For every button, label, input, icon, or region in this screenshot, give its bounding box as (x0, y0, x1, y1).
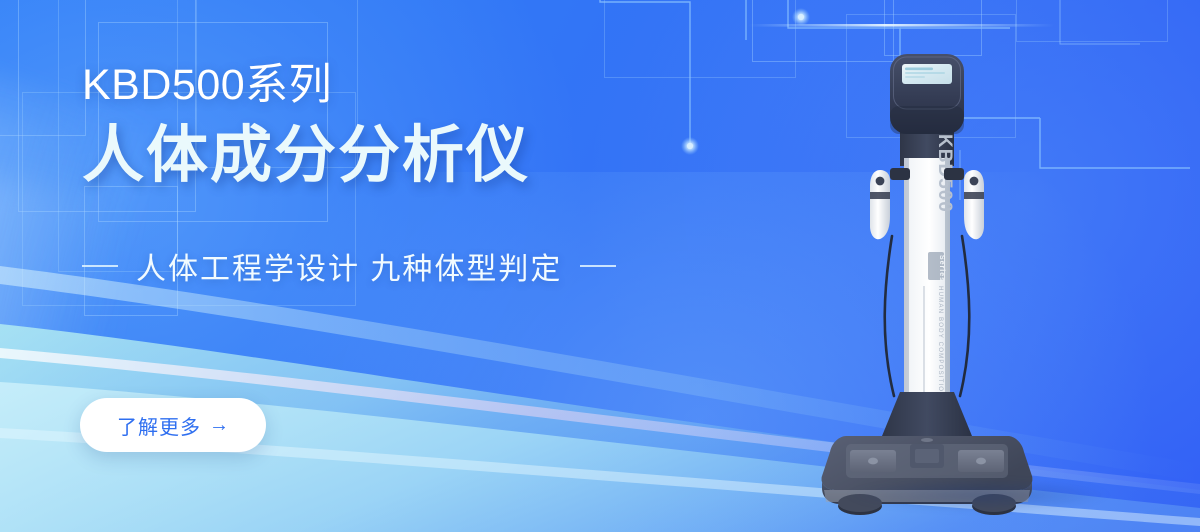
subtitle-row: 人体工程学设计 九种体型判定 (82, 244, 722, 288)
page-title: 人体成分分析仪 (82, 123, 722, 190)
arrow-right-icon: → (209, 415, 229, 435)
eyebrow-text: KBD500系列 (82, 62, 722, 109)
subtitle-text: 人体工程学设计 九种体型判定 (136, 244, 562, 288)
divider-dash-left (82, 265, 118, 267)
hero-banner: KBD500系列 人体成分分析仪 人体工程学设计 九种体型判定 了解更多 → (0, 0, 1200, 532)
hero-copy: KBD500系列 人体成分分析仪 人体工程学设计 九种体型判定 (82, 62, 722, 288)
device-neck (882, 392, 972, 436)
device-series-text: Series (938, 255, 945, 282)
decor-rect (0, 0, 86, 136)
learn-more-button[interactable]: 了解更多 → (80, 398, 266, 452)
product-image: KBD500 Series HUMAN BODY COMPOSITION ANA… (806, 40, 1146, 518)
divider-dash-right (580, 265, 616, 267)
device-ground-shadow (844, 478, 1112, 512)
device-illustration: KBD500 Series HUMAN BODY COMPOSITION ANA… (806, 40, 1146, 518)
learn-more-label: 了解更多 (117, 411, 201, 440)
decor-rect (1016, 0, 1168, 42)
